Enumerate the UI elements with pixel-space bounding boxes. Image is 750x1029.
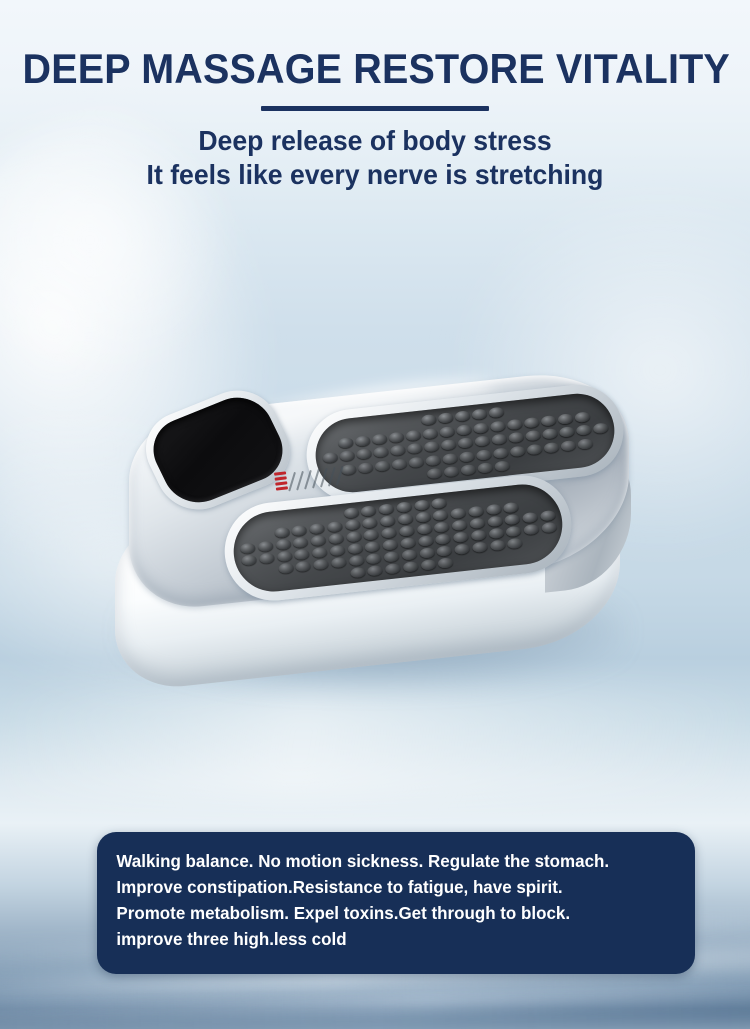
massage-nub [458, 437, 474, 449]
massage-nub [476, 449, 492, 461]
massage-nub [455, 410, 471, 422]
product-poster: DEEP MASSAGE RESTORE VITALITY Deep relea… [0, 0, 750, 1029]
massage-nub [396, 501, 412, 513]
massage-nub [527, 443, 543, 455]
massage-nub [407, 443, 423, 455]
massage-nub [420, 559, 436, 571]
massage-nub [434, 521, 450, 533]
massage-nub [469, 518, 485, 530]
massage-nub [278, 563, 294, 575]
massage-nub [450, 508, 466, 520]
massage-nub [241, 554, 257, 566]
massage-nub [525, 430, 541, 442]
massage-nub [472, 541, 488, 553]
massage-nub [331, 557, 347, 569]
massage-nub [346, 531, 362, 543]
massage-nub [399, 525, 415, 537]
poster-header: DEEP MASSAGE RESTORE VITALITY Deep relea… [0, 0, 750, 191]
page-title: DEEP MASSAGE RESTORE VITALITY [23, 0, 728, 92]
massage-nub [506, 526, 522, 538]
massage-nub [366, 553, 382, 565]
silk-band-2 [0, 979, 750, 1025]
massage-nub [574, 411, 590, 423]
massage-nub [438, 412, 454, 424]
massage-nub [494, 460, 510, 472]
massage-nub [559, 426, 575, 438]
massage-nub [276, 551, 292, 563]
benefits-callout-box: Walking balance. No motion sickness. Reg… [97, 832, 695, 974]
massage-nub [362, 517, 378, 529]
massage-nub [435, 533, 451, 545]
massage-nub [240, 543, 256, 555]
massage-nub [294, 549, 310, 561]
massage-nub [576, 424, 592, 436]
massage-nub [313, 559, 329, 571]
massage-nub [274, 527, 290, 539]
brand-logo-icon [274, 471, 288, 490]
massage-nub [493, 447, 509, 459]
massage-nub [310, 535, 326, 547]
massage-nub [542, 428, 558, 440]
massage-nub [293, 537, 309, 549]
subtitle-line-2: It feels like every nerve is stretching [19, 157, 732, 191]
massage-nub [456, 424, 472, 436]
massage-nub [454, 543, 470, 555]
benefit-line: improve three high.less cold [97, 926, 677, 952]
massage-nub [384, 551, 400, 563]
background-haze-band [0, 690, 750, 800]
massage-nub [491, 433, 507, 445]
massage-nub [374, 460, 390, 472]
massage-nub [433, 509, 449, 521]
massage-nub [541, 522, 557, 534]
massage-nub [560, 440, 576, 452]
massage-nub [488, 528, 504, 540]
massage-nub [474, 435, 490, 447]
massage-nub [490, 540, 506, 552]
massage-nub [361, 505, 377, 517]
massage-nub [593, 422, 609, 434]
massage-nub [322, 452, 338, 464]
massage-nub [373, 446, 389, 458]
massage-nub [439, 426, 455, 438]
massage-nub [397, 513, 413, 525]
massage-nub [363, 529, 379, 541]
massage-nub [503, 502, 519, 514]
massage-nub [388, 431, 404, 443]
massage-nub [401, 549, 417, 561]
massage-nub [372, 433, 388, 445]
massage-nub [505, 514, 521, 526]
product-image-vibration-plate [105, 378, 635, 698]
massage-nub [390, 445, 406, 457]
massage-nub [468, 506, 484, 518]
massage-nub [444, 466, 460, 478]
massage-nub [490, 420, 506, 432]
massage-nub [365, 541, 381, 553]
massage-nub [541, 415, 557, 427]
massage-nub [358, 462, 374, 474]
massage-nub [259, 553, 275, 565]
massage-nub [329, 545, 345, 557]
massage-nub [442, 452, 458, 464]
massage-nub [275, 539, 291, 551]
massage-nub [557, 413, 573, 425]
massage-nub [471, 529, 487, 541]
massage-nub [381, 527, 397, 539]
massage-nub [437, 545, 453, 557]
massage-nub [339, 450, 355, 462]
massage-nub [419, 547, 435, 559]
massage-nub [295, 561, 311, 573]
massage-nub [473, 422, 489, 434]
massage-nub [415, 511, 431, 523]
massage-nub [431, 498, 447, 510]
massage-nub [507, 418, 523, 430]
massage-nub [577, 438, 593, 450]
massage-nub [408, 456, 424, 468]
massage-nub [338, 437, 354, 449]
massage-nub [471, 408, 487, 420]
massage-nub [421, 414, 437, 426]
massage-nub [543, 441, 559, 453]
massage-nub [486, 504, 502, 516]
massage-nub [327, 521, 343, 533]
massage-nub [438, 557, 454, 569]
massage-nub [459, 451, 475, 463]
massage-nub [309, 523, 325, 535]
massage-nub [344, 519, 360, 531]
benefit-line: Improve constipation.Resistance to fatig… [97, 874, 677, 900]
massage-nub [422, 427, 438, 439]
massage-nub [414, 499, 430, 511]
massage-nub [378, 503, 394, 515]
massage-nub [291, 525, 307, 537]
massage-nub [356, 448, 372, 460]
massage-nub [418, 535, 434, 547]
massage-nub [405, 429, 421, 441]
massage-nub [403, 561, 419, 573]
massage-nub [380, 515, 396, 527]
massage-nub [328, 533, 344, 545]
massage-nub [400, 537, 416, 549]
massage-nub [355, 435, 371, 447]
massage-nub [507, 538, 523, 550]
massage-nub [427, 468, 443, 480]
massage-nub [524, 416, 540, 428]
massage-nub [487, 516, 503, 528]
massage-nub [452, 519, 468, 531]
massage-nub [441, 439, 457, 451]
massage-nub [524, 524, 540, 536]
massage-nub [510, 445, 526, 457]
massage-nub [343, 507, 359, 519]
massage-nub [348, 555, 364, 567]
massage-nub [385, 563, 401, 575]
massage-nub [367, 565, 383, 577]
benefit-line: Walking balance. No motion sickness. Reg… [97, 848, 677, 874]
massage-nub [257, 541, 273, 553]
massage-nub [488, 407, 504, 419]
benefit-line: Promote metabolism. Expel toxins.Get thr… [97, 900, 677, 926]
massage-nub [477, 462, 493, 474]
massage-nub [312, 547, 328, 559]
massage-nub [347, 543, 363, 555]
massage-nub [453, 531, 469, 543]
subtitle-line-1: Deep release of body stress [19, 111, 732, 157]
massage-nub [522, 512, 538, 524]
massage-nub [391, 458, 407, 470]
massage-nub [540, 510, 556, 522]
massage-nub [508, 432, 524, 444]
massage-nub [382, 539, 398, 551]
massage-nub [460, 464, 476, 476]
massage-nub [425, 454, 441, 466]
massage-nub [350, 567, 366, 579]
silk-band-3 [0, 1000, 750, 1029]
massage-nub [424, 441, 440, 453]
massage-nub [416, 523, 432, 535]
